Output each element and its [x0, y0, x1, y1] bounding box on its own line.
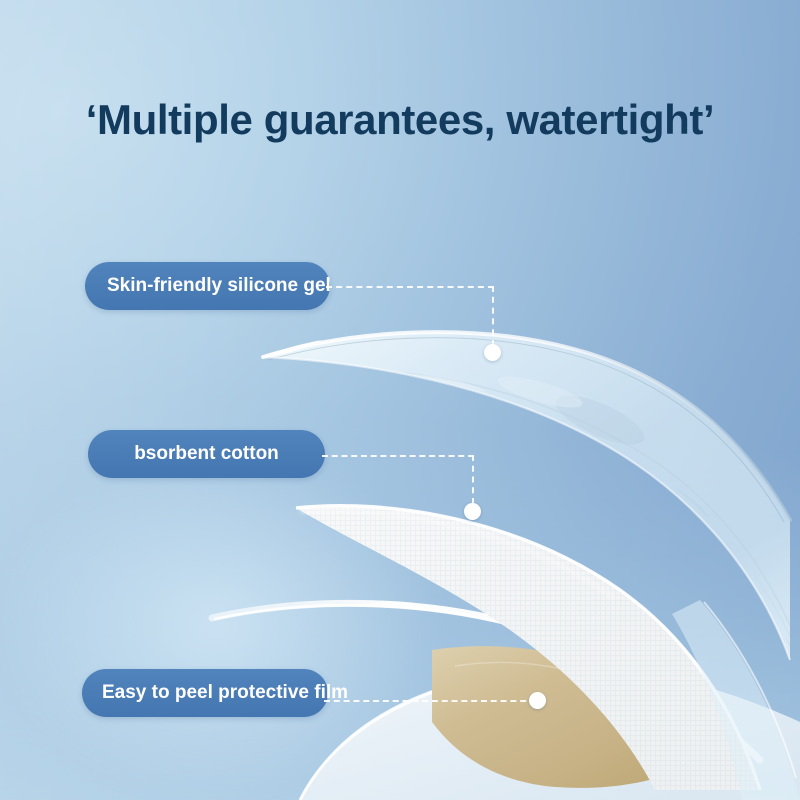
leader-line-silicone-gel-horizontal: [326, 286, 494, 288]
page-title: ‘Multiple guarantees, watertight’: [0, 96, 800, 144]
marker-dot-protective-film[interactable]: [529, 692, 546, 709]
callout-label-silicone-gel: Skin-friendly silicone gel: [107, 275, 331, 297]
leader-line-absorbent-cotton-horizontal: [322, 455, 474, 457]
marker-dot-silicone-gel[interactable]: [484, 344, 501, 361]
product-infographic: ‘Multiple guarantees, watertight’ Skin-f…: [0, 0, 800, 800]
callout-pill-protective-film[interactable]: Easy to peel protective film: [82, 669, 328, 717]
callout-label-absorbent-cotton: bsorbent cotton: [134, 443, 279, 465]
callout-pill-absorbent-cotton[interactable]: bsorbent cotton: [88, 430, 325, 478]
marker-dot-absorbent-cotton[interactable]: [464, 503, 481, 520]
callout-label-protective-film: Easy to peel protective film: [102, 682, 348, 704]
leader-line-absorbent-cotton-vertical: [472, 455, 474, 504]
leader-line-silicone-gel-vertical: [492, 286, 494, 346]
leader-line-protective-film-horizontal: [324, 700, 536, 702]
callout-pill-silicone-gel[interactable]: Skin-friendly silicone gel: [85, 262, 330, 310]
